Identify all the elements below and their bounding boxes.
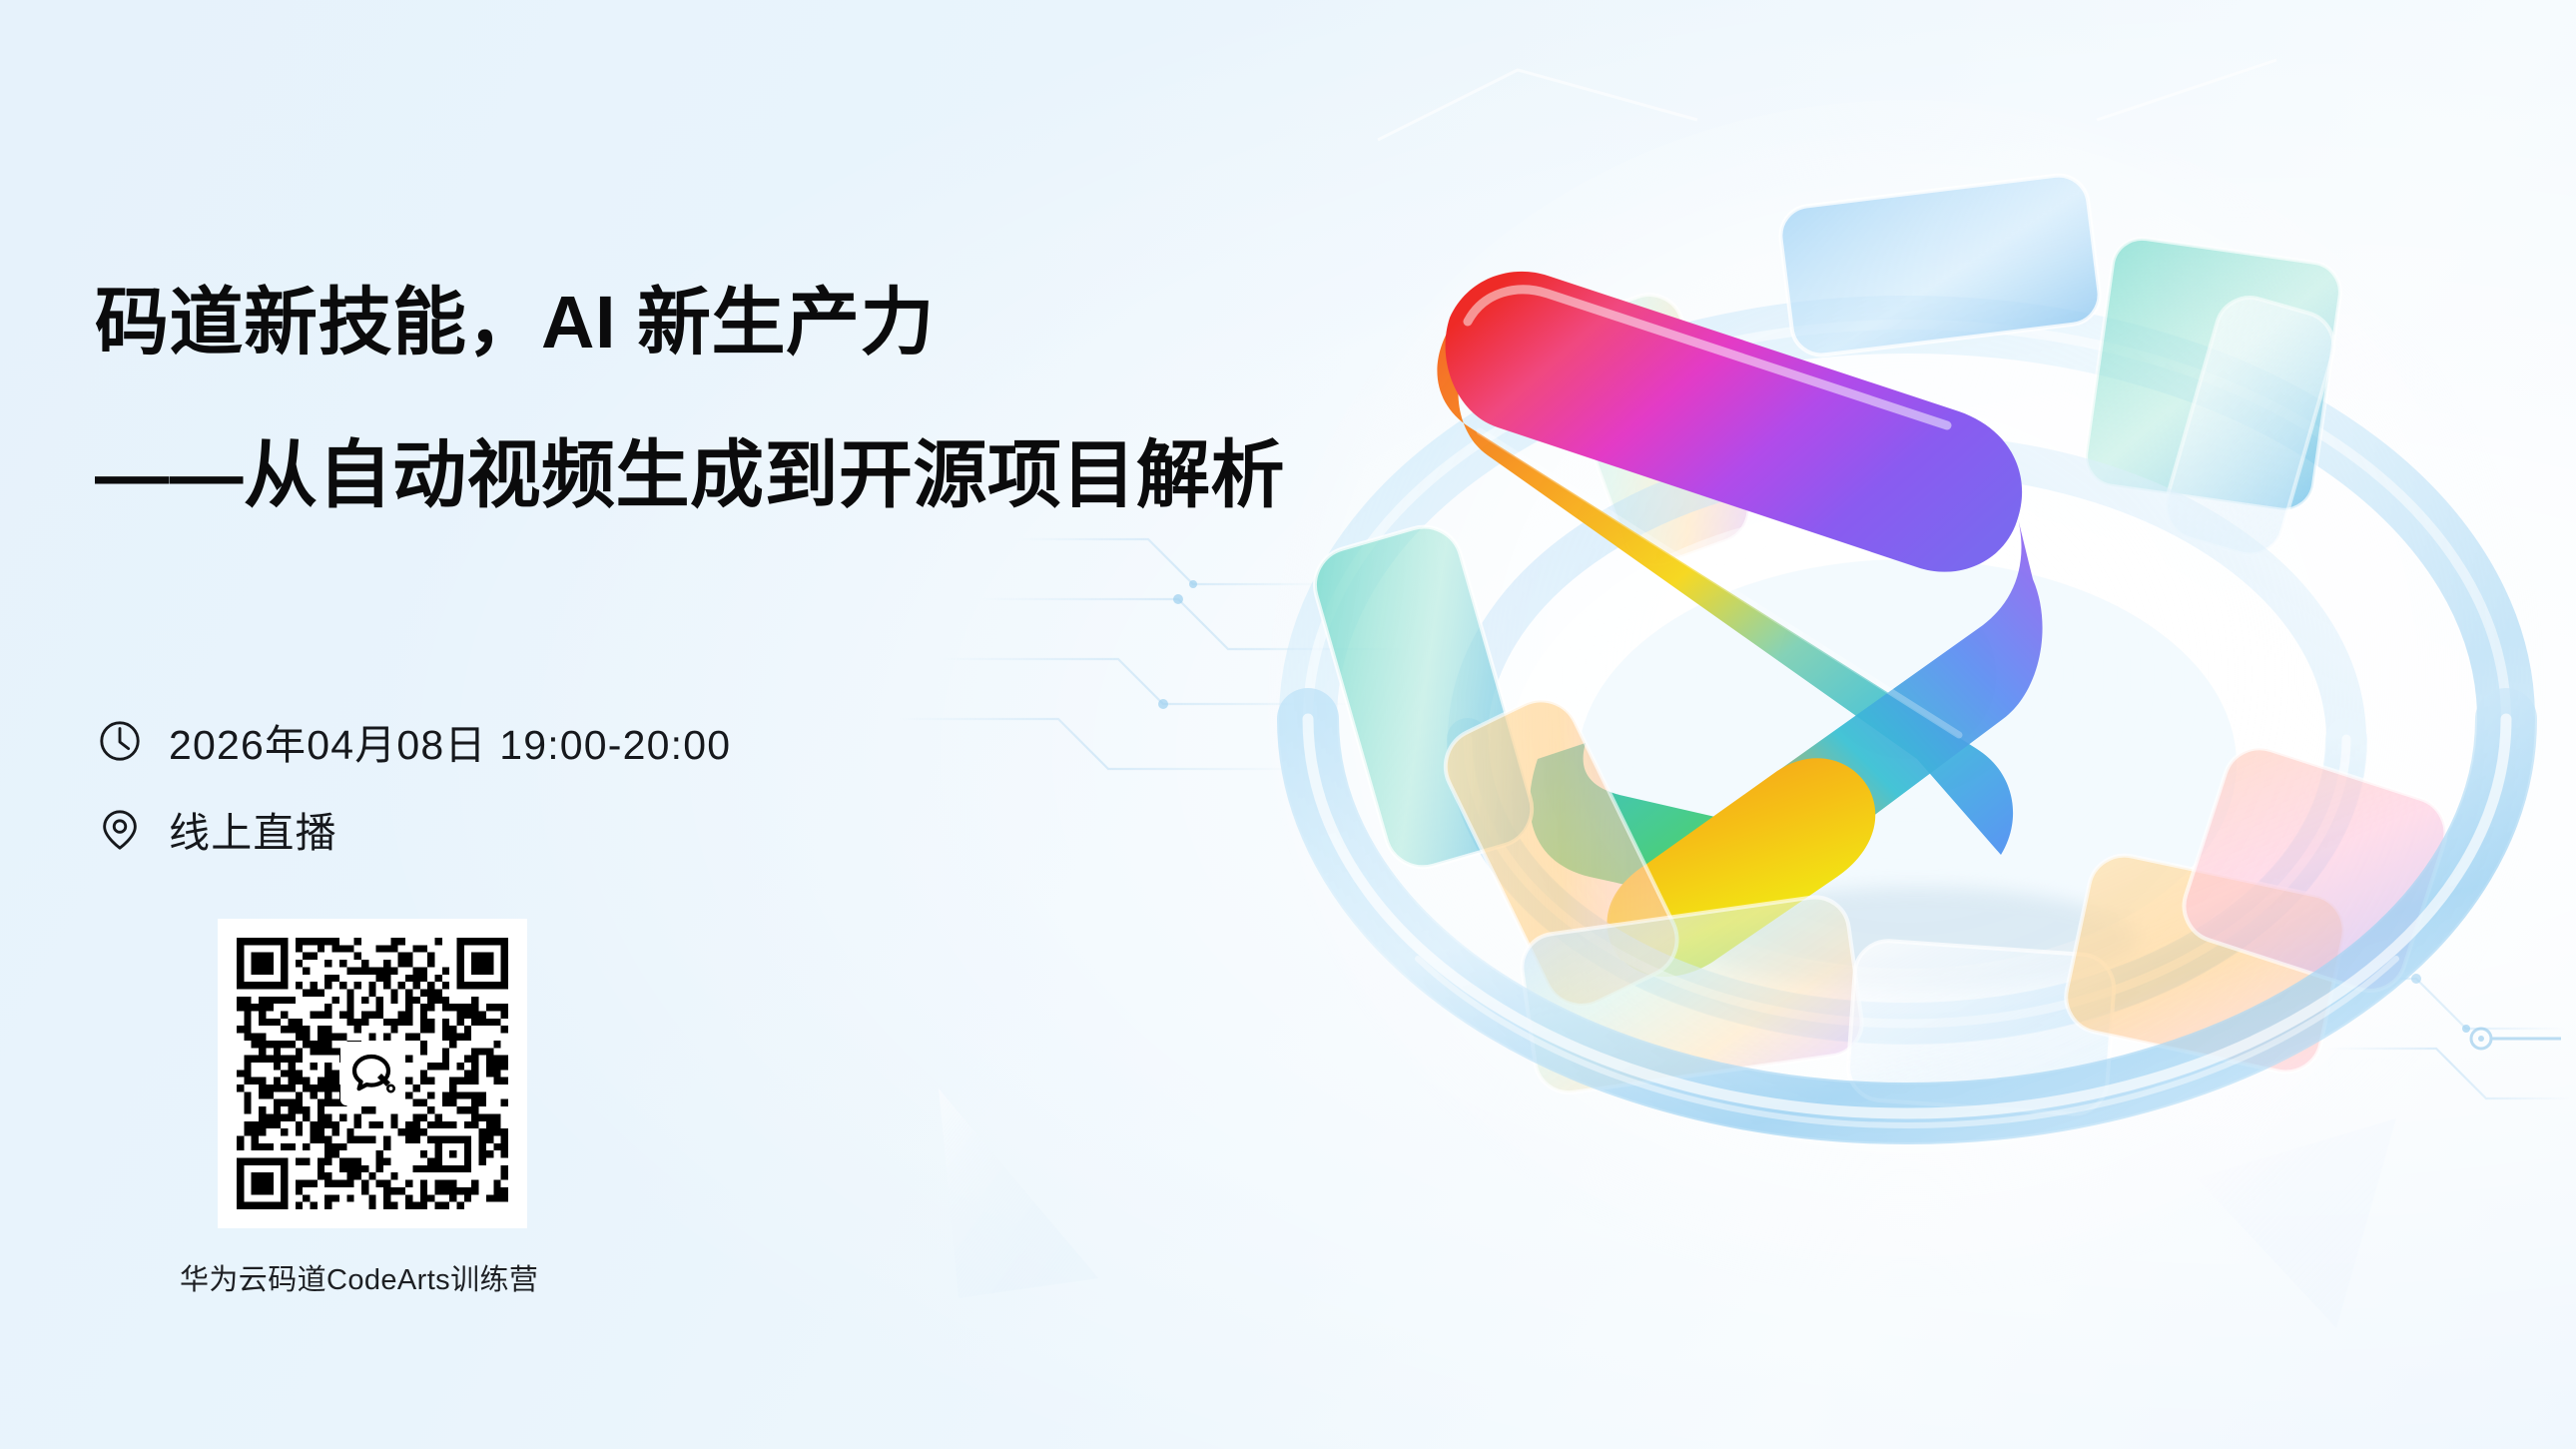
qr-center-logo [340,1042,404,1105]
event-time-row: 2026年04月08日 19:00-20:00 [97,711,731,771]
content-column: 码道新技能，AI 新生产力 ——从自动视频生成到开源项目解析 2026年04月0… [95,0,1413,1449]
location-pin-icon [97,806,143,852]
hero-artwork [1218,60,2576,1388]
circuit-node [2471,1029,2561,1049]
page-subtitle: ——从自动视频生成到开源项目解析 [95,437,1285,512]
event-place-text: 线上直播 [169,799,337,859]
qr-block: 华为云码道CodeArts训练营 [218,919,527,1298]
clock-icon [97,718,143,764]
promo-banner: 码道新技能，AI 新生产力 ——从自动视频生成到开源项目解析 2026年04月0… [0,0,2576,1449]
event-time-text: 2026年04月08日 19:00-20:00 [169,711,731,771]
chat-bubble-megaphone-icon [346,1048,398,1099]
glass-ribbon-illustration [1218,60,2576,1388]
qr-caption: 华为云码道CodeArts训练营 [180,1256,489,1298]
event-place-row: 线上直播 [97,799,337,859]
qr-code[interactable] [218,919,527,1228]
page-title: 码道新技能，AI 新生产力 [95,285,935,360]
